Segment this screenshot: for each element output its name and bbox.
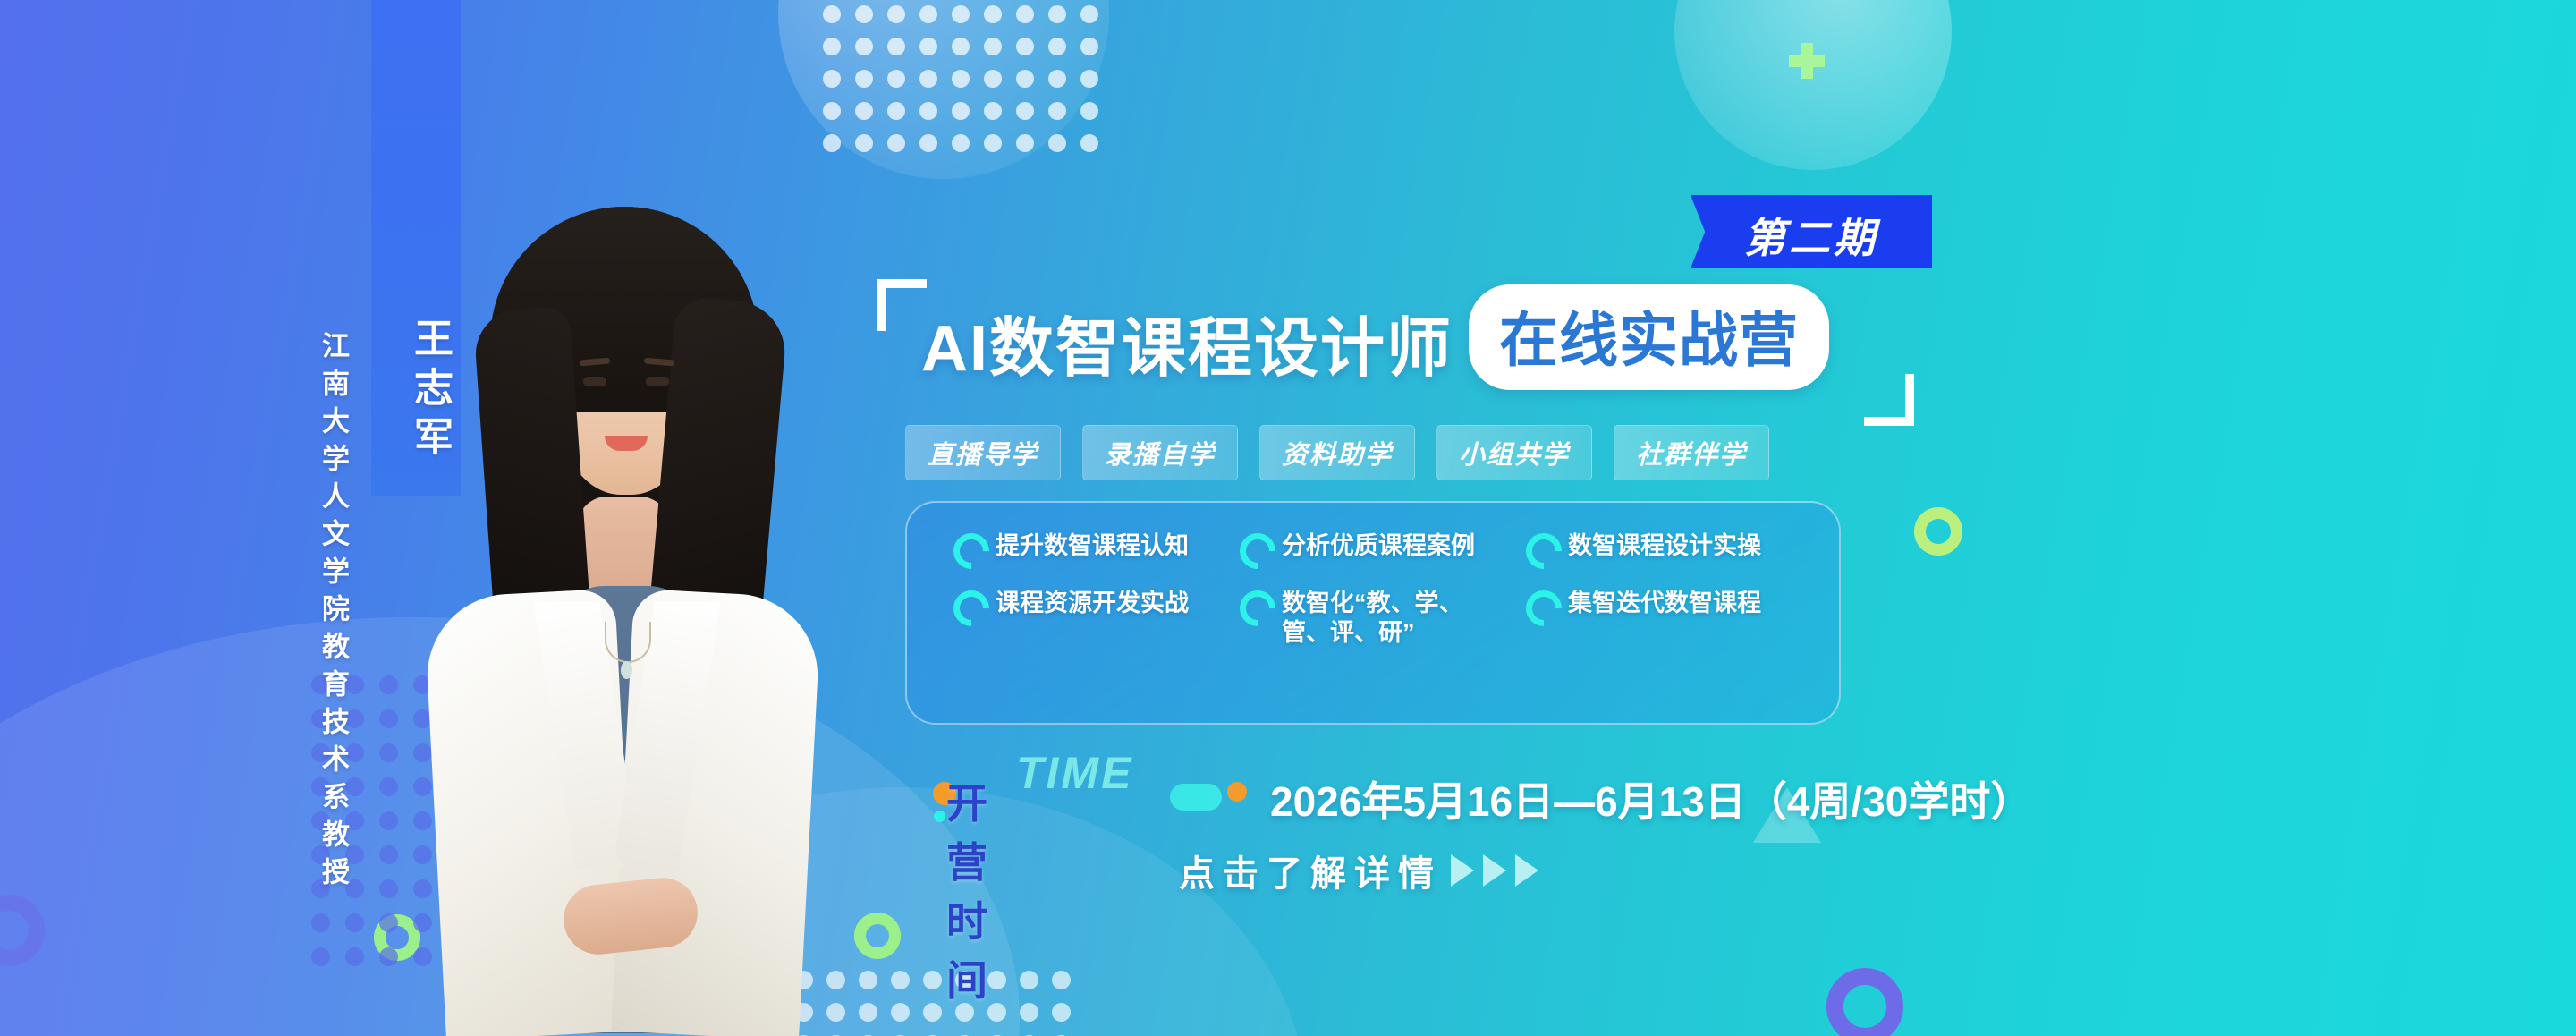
decor-ring-green-icon bbox=[1914, 507, 1962, 556]
promo-banner: 王志军 江南大学人文学院教育技术系教授 第二期 AI数智课程设计师 在线实战营 … bbox=[0, 0, 2576, 1036]
tag-item: 社群伴学 bbox=[1614, 425, 1769, 480]
feature-label: 课程资源开发实战 bbox=[996, 589, 1189, 618]
issue-badge-label: 第二期 bbox=[1690, 206, 1932, 265]
headline-pill: 在线实战营 bbox=[1469, 284, 1829, 390]
arc-bullet-icon bbox=[1519, 526, 1570, 577]
feature-label: 数智化“教、学、管、评、研” bbox=[1282, 589, 1487, 648]
portrait-pendant bbox=[621, 661, 632, 679]
decor-plus-icon bbox=[1789, 43, 1825, 79]
time-dot-cyan-icon bbox=[934, 811, 945, 822]
decor-ring-purple-icon bbox=[0, 895, 45, 966]
bracket-top-left-icon bbox=[877, 279, 927, 331]
time-label-pill bbox=[1170, 784, 1222, 811]
decor-circle-large-right bbox=[1674, 0, 1952, 170]
headline-main: AI数智课程设计师 bbox=[921, 295, 1453, 389]
decor-circle-large-left bbox=[778, 0, 1109, 179]
tag-item: 录播自学 bbox=[1082, 425, 1238, 480]
arrow-right-icon bbox=[1483, 854, 1506, 887]
decor-ring-green-icon bbox=[854, 913, 901, 959]
decor-ring-purple-icon bbox=[1826, 968, 1903, 1036]
headline-block: AI数智课程设计师 在线实战营 bbox=[877, 268, 1932, 438]
feature-panel: 提升数智课程认知分析优质课程案例数智课程设计实操课程资源开发实战数智化“教、学、… bbox=[905, 501, 1841, 725]
arc-bullet-icon bbox=[1233, 526, 1284, 577]
portrait-eye-right bbox=[646, 377, 669, 386]
feature-label: 集智迭代数智课程 bbox=[1568, 589, 1761, 618]
feature-label: 提升数智课程认知 bbox=[996, 531, 1189, 561]
time-value: 2026年5月16日—6月13日（4周/30学时） bbox=[1270, 769, 2031, 828]
feature-label: 分析优质课程案例 bbox=[1282, 531, 1475, 561]
feature-item: 数智课程设计实操 bbox=[1526, 531, 1812, 569]
tag-item: 小组共学 bbox=[1436, 425, 1592, 480]
cta-button[interactable]: 点击了解详情 bbox=[1179, 845, 1538, 896]
time-label: 开营时间 bbox=[946, 771, 990, 1007]
cta-label: 点击了解详情 bbox=[1179, 845, 1442, 896]
arc-bullet-icon bbox=[946, 526, 997, 577]
tag-item: 直播导学 bbox=[905, 425, 1061, 480]
feature-item: 分析优质课程案例 bbox=[1240, 531, 1526, 569]
feature-item: 提升数智课程认知 bbox=[953, 531, 1240, 569]
tag-list: 直播导学录播自学资料助学小组共学社群伴学 bbox=[905, 425, 1769, 480]
decor-ring-green-icon bbox=[374, 914, 420, 961]
feature-label: 数智课程设计实操 bbox=[1568, 531, 1761, 561]
feature-item: 课程资源开发实战 bbox=[953, 589, 1240, 648]
speaker-portrait bbox=[420, 201, 823, 1036]
feature-item: 集智迭代数智课程 bbox=[1526, 589, 1812, 648]
arrow-right-icon bbox=[1515, 854, 1538, 887]
time-watermark: TIME bbox=[1016, 747, 1133, 799]
arc-bullet-icon bbox=[946, 583, 997, 634]
portrait-eye-left bbox=[583, 377, 606, 386]
issue-badge: 第二期 bbox=[1690, 195, 1932, 268]
time-dot-orange-icon bbox=[1227, 782, 1247, 802]
tag-item: 资料助学 bbox=[1259, 425, 1415, 480]
speaker-title: 江南大学人文学院教育技术系教授 bbox=[305, 331, 353, 895]
feature-grid: 提升数智课程认知分析优质课程案例数智课程设计实操课程资源开发实战数智化“教、学、… bbox=[953, 531, 1812, 648]
feature-item: 数智化“教、学、管、评、研” bbox=[1240, 589, 1526, 648]
arrow-right-icon bbox=[1451, 854, 1474, 887]
bracket-bottom-right-icon bbox=[1864, 374, 1914, 426]
arc-bullet-icon bbox=[1519, 583, 1570, 634]
arc-bullet-icon bbox=[1233, 583, 1284, 634]
